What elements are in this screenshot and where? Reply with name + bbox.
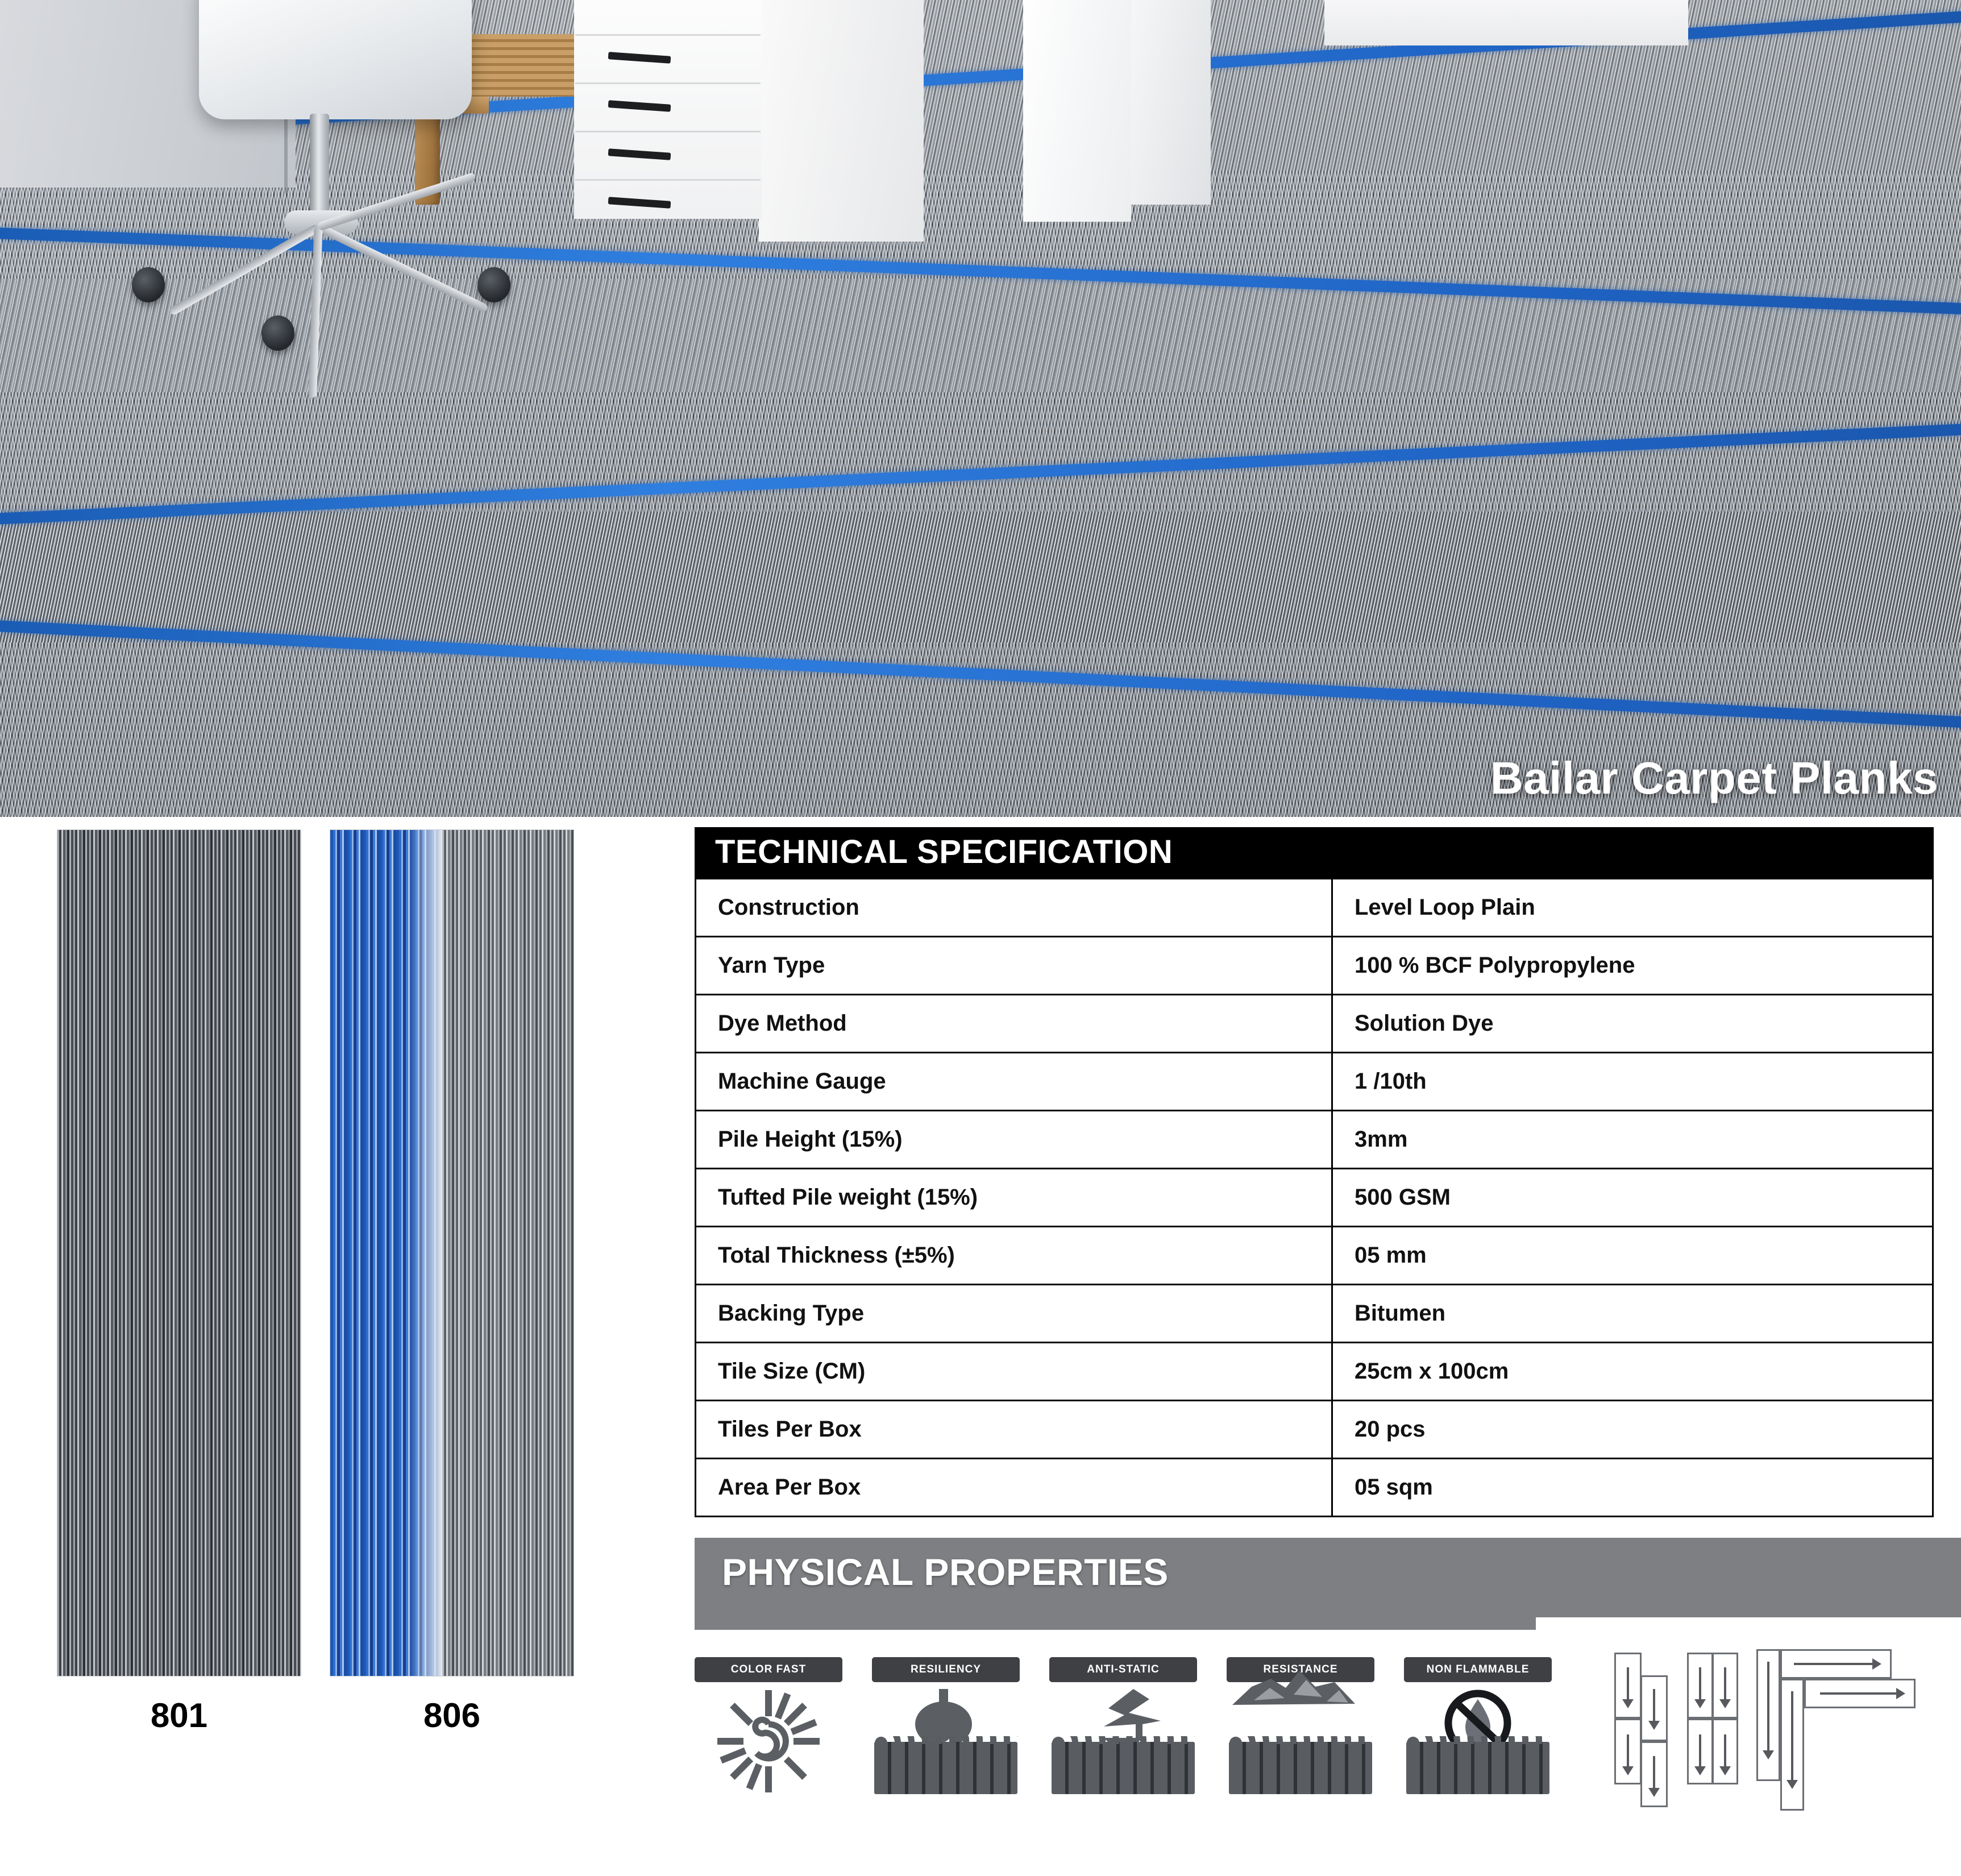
spec-value: Solution Dye bbox=[1332, 995, 1933, 1053]
drawer-divider bbox=[575, 131, 761, 132]
table-row: Machine Gauge1 /10th bbox=[696, 1053, 1933, 1111]
gravel-rubble-icon bbox=[1227, 1689, 1374, 1794]
table-row: Tile Size (CM)25cm x 100cm bbox=[696, 1343, 1933, 1401]
carpet-pile bbox=[1052, 1742, 1195, 1794]
carpet-pile bbox=[874, 1742, 1017, 1794]
swatch-806-code: 806 bbox=[330, 1696, 574, 1735]
office-chair-post bbox=[310, 114, 329, 222]
background-desk bbox=[1324, 0, 1688, 45]
swatch-806-block: 806 bbox=[330, 829, 574, 1735]
installation-patterns bbox=[1614, 1653, 1955, 1840]
direction-arrow bbox=[1820, 1692, 1897, 1695]
chair-caster bbox=[132, 267, 165, 302]
spec-key: Tile Size (CM) bbox=[696, 1343, 1332, 1401]
table-row: Tiles Per Box20 pcs bbox=[696, 1401, 1933, 1459]
table-row: Dye MethodSolution Dye bbox=[696, 995, 1933, 1053]
swatch-806-texture bbox=[330, 829, 574, 1676]
drawer-divider bbox=[575, 179, 761, 181]
property-label: NON FLAMMABLE bbox=[1404, 1657, 1552, 1682]
spec-table: ConstructionLevel Loop Plain Yarn Type10… bbox=[695, 878, 1934, 1517]
property-label: ANTI-STATIC bbox=[1049, 1657, 1197, 1682]
spec-value: 05 mm bbox=[1332, 1227, 1933, 1285]
carpet-pile bbox=[1229, 1742, 1372, 1794]
spec-key: Construction bbox=[696, 879, 1332, 937]
cabinet-side-panel bbox=[759, 0, 924, 242]
spec-key: Pile Height (15%) bbox=[696, 1111, 1332, 1169]
direction-arrow bbox=[1724, 1734, 1726, 1767]
spec-value: 3mm bbox=[1332, 1111, 1933, 1169]
page-title: Bailar Carpet Planks bbox=[1490, 752, 1938, 804]
table-row: Area Per Box05 sqm bbox=[696, 1459, 1933, 1517]
property-icon-row: COLOR FAST bbox=[695, 1657, 1552, 1794]
physical-properties-heading: PHYSICAL PROPERTIES bbox=[722, 1550, 1169, 1593]
weight-press-icon bbox=[872, 1689, 1020, 1794]
herringbone-band bbox=[0, 512, 1961, 642]
swatch-801-texture bbox=[57, 829, 301, 1676]
swatch-801-block: 801 bbox=[57, 829, 301, 1735]
spec-value: 1 /10th bbox=[1332, 1053, 1933, 1111]
spec-key: Tiles Per Box bbox=[696, 1401, 1332, 1459]
property-label: RESILIENCY bbox=[872, 1657, 1020, 1682]
direction-arrow bbox=[1791, 1691, 1793, 1781]
physical-properties-banner: PHYSICAL PROPERTIES bbox=[695, 1538, 1961, 1633]
property-anti-static: ANTI-STATIC bbox=[1049, 1657, 1197, 1794]
spec-value: Level Loop Plain bbox=[1332, 879, 1933, 937]
herringbone-band bbox=[0, 392, 1961, 512]
swatch-806-grey-zone bbox=[442, 830, 574, 1676]
direction-arrow bbox=[1699, 1667, 1701, 1700]
spec-key: Total Thickness (±5%) bbox=[696, 1227, 1332, 1285]
spec-value: 20 pcs bbox=[1332, 1401, 1933, 1459]
banner-step bbox=[695, 1617, 1536, 1630]
desk-pedestal bbox=[1023, 0, 1131, 222]
table-row: Pile Height (15%)3mm bbox=[696, 1111, 1933, 1169]
chair-caster bbox=[261, 316, 294, 351]
spec-value: 05 sqm bbox=[1332, 1459, 1933, 1517]
direction-arrow bbox=[1627, 1667, 1629, 1700]
spec-key: Tufted Pile weight (15%) bbox=[696, 1169, 1332, 1227]
property-resistance: RESISTANCE bbox=[1227, 1657, 1374, 1794]
spec-key: Backing Type bbox=[696, 1285, 1332, 1343]
property-label: COLOR FAST bbox=[695, 1657, 842, 1682]
spec-value: 100 % BCF Polypropylene bbox=[1332, 937, 1933, 995]
direction-arrow bbox=[1653, 1689, 1655, 1722]
spec-heading: TECHNICAL SPECIFICATION bbox=[695, 827, 1934, 878]
office-chair-seat bbox=[199, 0, 472, 119]
direction-arrow bbox=[1627, 1734, 1629, 1767]
spec-value: 500 GSM bbox=[1332, 1169, 1933, 1227]
desk-panel bbox=[1131, 0, 1211, 205]
lower-section: 801 806 TECHNICAL SPECIFICATION Construc… bbox=[0, 817, 1961, 1876]
direction-arrow bbox=[1794, 1663, 1873, 1665]
spec-key: Area Per Box bbox=[696, 1459, 1332, 1517]
chair-caster bbox=[477, 267, 510, 302]
table-row: ConstructionLevel Loop Plain bbox=[696, 879, 1933, 937]
carpet-pile bbox=[1406, 1742, 1549, 1794]
direction-arrow bbox=[1699, 1734, 1701, 1767]
direction-arrow bbox=[1653, 1756, 1655, 1789]
spec-value: Bitumen bbox=[1332, 1285, 1933, 1343]
direction-arrow bbox=[1767, 1662, 1769, 1752]
sunburst-spiral-icon bbox=[695, 1689, 842, 1794]
no-flame-icon bbox=[1404, 1689, 1552, 1794]
lightning-bolt-icon bbox=[1049, 1689, 1197, 1794]
hero-image: Bailar Carpet Planks bbox=[0, 0, 1961, 817]
spec-key: Machine Gauge bbox=[696, 1053, 1332, 1111]
table-row: Tufted Pile weight (15%)500 GSM bbox=[696, 1169, 1933, 1227]
technical-specification: TECHNICAL SPECIFICATION ConstructionLeve… bbox=[695, 827, 1934, 1517]
property-color-fast: COLOR FAST bbox=[695, 1657, 842, 1794]
spec-key: Dye Method bbox=[696, 995, 1332, 1053]
property-resiliency: RESILIENCY bbox=[872, 1657, 1020, 1794]
direction-arrow bbox=[1724, 1667, 1726, 1700]
table-row: Backing TypeBitumen bbox=[696, 1285, 1933, 1343]
spec-key: Yarn Type bbox=[696, 937, 1332, 995]
spec-value: 25cm x 100cm bbox=[1332, 1343, 1933, 1401]
table-row: Yarn Type100 % BCF Polypropylene bbox=[696, 937, 1933, 995]
table-row: Total Thickness (±5%)05 mm bbox=[696, 1227, 1933, 1285]
swatch-801-code: 801 bbox=[57, 1696, 301, 1735]
drawer-divider bbox=[575, 82, 761, 84]
property-non-flammable: NON FLAMMABLE bbox=[1404, 1657, 1552, 1794]
drawer-divider bbox=[575, 34, 761, 36]
